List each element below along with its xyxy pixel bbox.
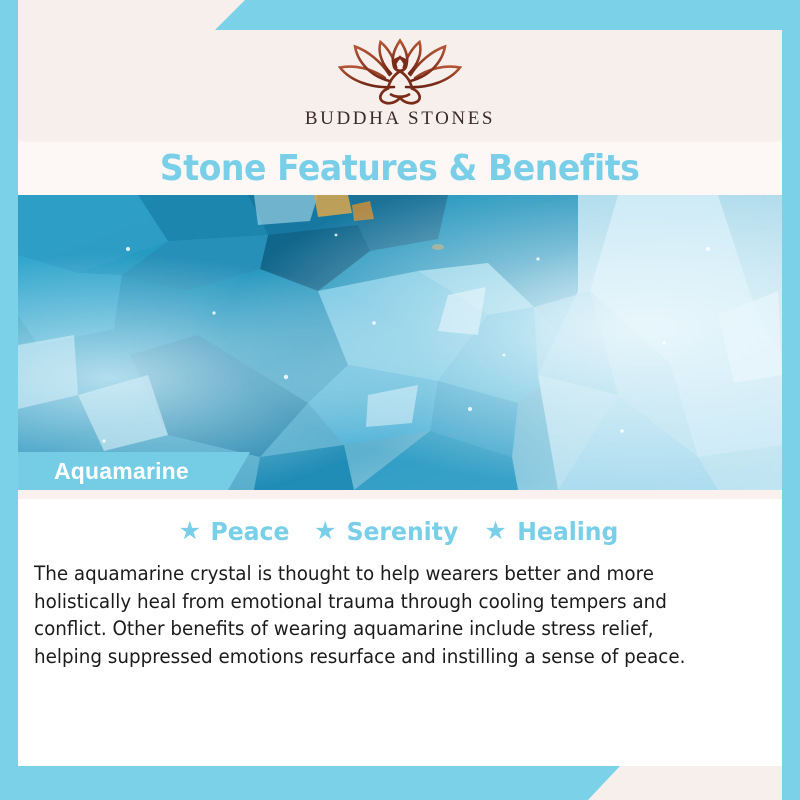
keyword-list: ★ Peace ★ Serenity ★ Healing: [18, 517, 782, 546]
stone-description: The aquamarine crystal is thought to hel…: [34, 560, 724, 671]
keyword-label: Peace: [211, 517, 290, 546]
content-top-strip: [18, 490, 782, 499]
brand-name: BUDDHA STONES: [305, 108, 495, 130]
keyword-label: Serenity: [347, 517, 459, 546]
keyword-item-peace: ★ Peace: [179, 517, 292, 546]
infographic-page: BUDDHA STONES Stone Features & Benefits: [0, 0, 800, 800]
stone-name-chip: Aquamarine: [18, 452, 250, 490]
right-accent-bar: [782, 0, 800, 800]
star-icon: ★: [314, 519, 336, 544]
lotus-meditation-figure-icon: [325, 34, 475, 110]
crystal-photo: [18, 195, 782, 490]
keyword-item-healing: ★ Healing: [484, 517, 621, 546]
content-panel: ★ Peace ★ Serenity ★ Healing The aquamar…: [18, 490, 782, 766]
page-title: Stone Features & Benefits: [160, 151, 640, 187]
brand-header: BUDDHA STONES: [18, 30, 782, 140]
star-icon: ★: [484, 519, 506, 544]
crystal-photo-graphic: [18, 195, 782, 490]
keyword-item-serenity: ★ Serenity: [314, 517, 462, 546]
keyword-label: Healing: [517, 517, 618, 546]
left-accent-bar: [0, 0, 18, 800]
top-accent-bar: [215, 0, 800, 30]
star-icon: ★: [179, 519, 201, 544]
title-banner: Stone Features & Benefits: [18, 142, 782, 195]
bottom-accent-bar: [0, 766, 620, 800]
stone-name-label: Aquamarine: [18, 458, 189, 485]
